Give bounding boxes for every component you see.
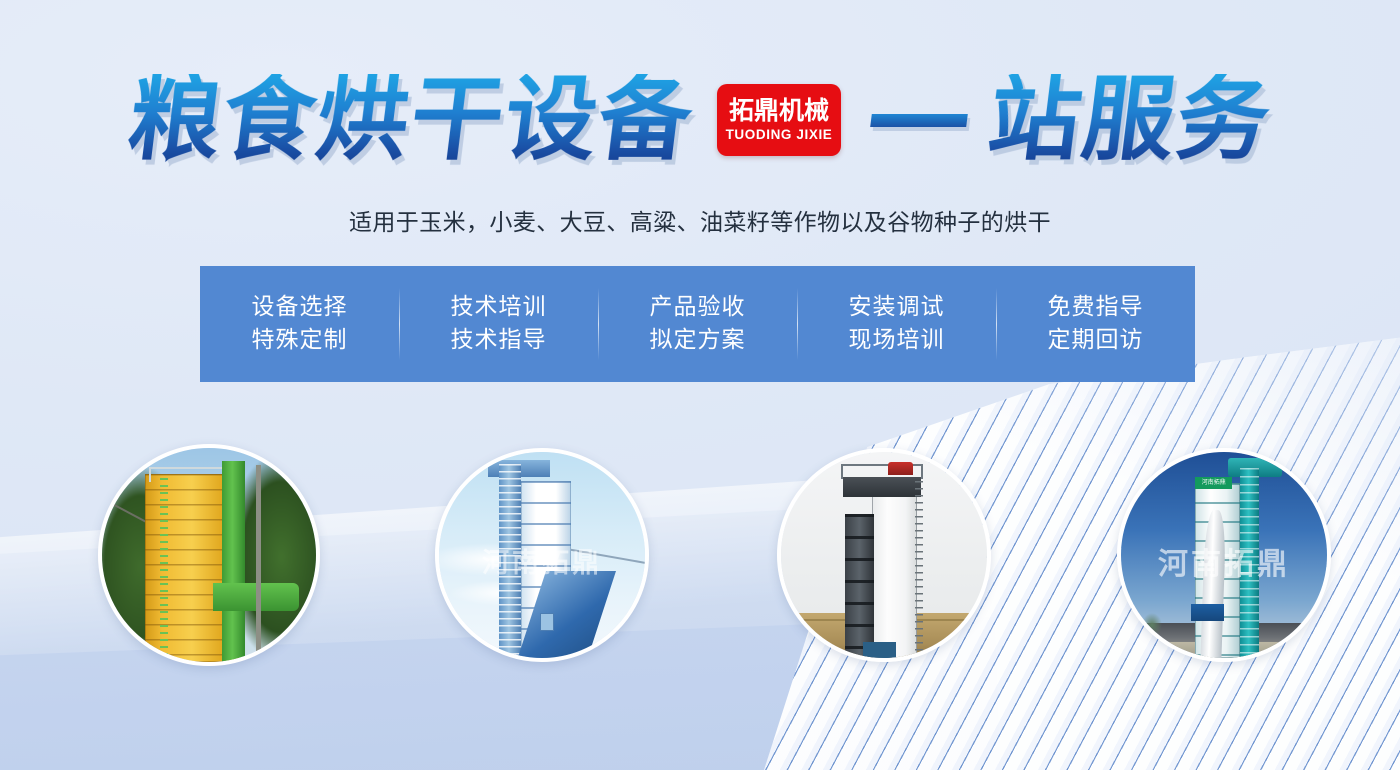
access-panel	[540, 613, 554, 632]
feature-item-equipment-selection[interactable]: 设备选择 特殊定制	[200, 291, 399, 356]
feature-line-2: 技术指导	[399, 324, 598, 357]
headline-title-left: 粮食烘干设备	[123, 74, 708, 166]
elevator-column	[222, 461, 246, 662]
feature-item-installation-commissioning[interactable]: 安装调试 现场培训	[797, 291, 996, 356]
headline-dash-stroke	[870, 114, 968, 127]
dryer-duct-panels	[845, 514, 874, 658]
promo-banner: 粮食烘干设备 拓鼎机械 TUODING JIXIE 站服务 适用于玉米，小麦、大…	[0, 0, 1400, 770]
product-photo-4-image: 河南拓鼎 河南拓鼎	[1121, 452, 1327, 658]
red-equipment-unit	[888, 462, 913, 474]
tree-foliage	[1142, 613, 1163, 638]
ladder	[915, 481, 923, 658]
tower-head-housing	[843, 477, 921, 498]
feature-line-2: 定期回访	[996, 324, 1195, 357]
headline: 粮食烘干设备 拓鼎机械 TUODING JIXIE 站服务	[0, 74, 1400, 166]
feature-item-technical-training[interactable]: 技术培训 技术指导	[399, 291, 598, 356]
feature-line-1: 安装调试	[797, 291, 996, 324]
feature-line-2: 拟定方案	[598, 324, 797, 357]
product-photo-3[interactable]	[777, 448, 991, 662]
tower-base	[863, 642, 896, 658]
brand-sign-on-tower: 河南拓鼎	[1195, 477, 1232, 489]
feature-line-2: 特殊定制	[200, 324, 399, 357]
feature-line-1: 技术培训	[399, 291, 598, 324]
feature-item-free-guidance[interactable]: 免费指导 定期回访	[996, 291, 1195, 356]
brand-logo-pinyin: TUODING JIXIE	[726, 127, 833, 142]
tower-base	[1191, 604, 1224, 620]
product-photo-2[interactable]: 河南拓鼎	[435, 448, 649, 662]
brand-logo-badge: 拓鼎机械 TUODING JIXIE	[717, 84, 841, 156]
grain-dryer-tower	[872, 489, 917, 658]
photo-watermark: 河南拓鼎	[439, 541, 645, 580]
product-photo-1-image	[102, 448, 316, 662]
utility-pole	[256, 465, 261, 662]
product-photo-1[interactable]	[98, 444, 320, 666]
ladder	[160, 478, 169, 658]
brand-sign-text: 河南拓鼎	[1195, 477, 1232, 488]
feature-line-1: 免费指导	[996, 291, 1195, 324]
photo-watermark: 河南拓鼎	[1121, 539, 1327, 583]
feature-line-1: 设备选择	[200, 291, 399, 324]
product-photo-4[interactable]: 河南拓鼎 河南拓鼎	[1117, 448, 1331, 662]
brand-logo-chinese: 拓鼎机械	[729, 98, 829, 124]
service-feature-bar: 设备选择 特殊定制 技术培训 技术指导 产品验收 拟定方案 安装调试 现场培训 …	[200, 266, 1195, 382]
feature-item-product-acceptance[interactable]: 产品验收 拟定方案	[598, 291, 797, 356]
product-photo-3-image	[781, 452, 987, 658]
headline-title-right: 站服务	[977, 74, 1276, 166]
headline-subtitle: 适用于玉米，小麦、大豆、高粱、油菜籽等作物以及谷物种子的烘干	[0, 203, 1400, 237]
product-photo-2-image: 河南拓鼎	[439, 452, 645, 658]
feature-line-1: 产品验收	[598, 291, 797, 324]
feature-line-2: 现场培训	[797, 324, 996, 357]
